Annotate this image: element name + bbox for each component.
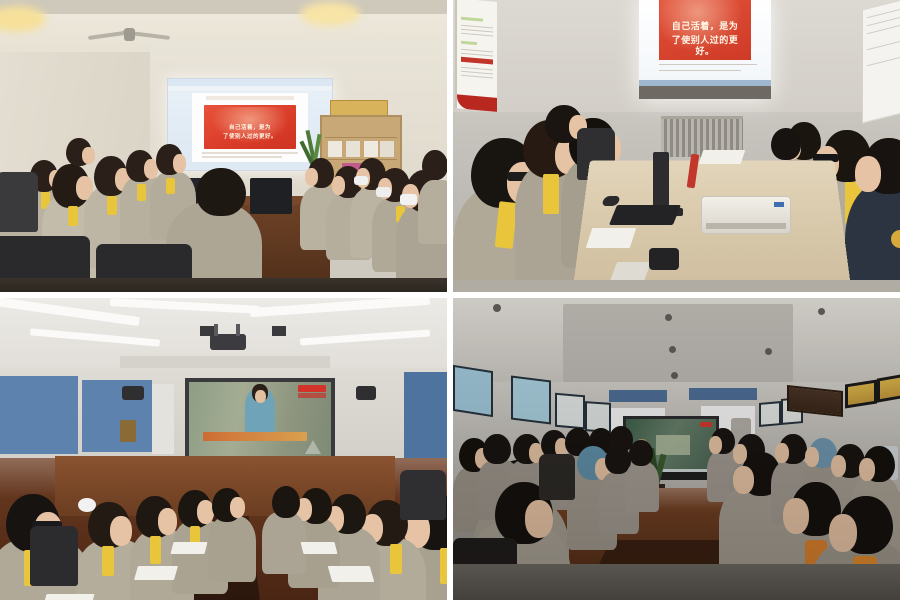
notes-paper — [41, 594, 94, 600]
whiteboard — [862, 0, 900, 123]
window-blind-left — [0, 376, 78, 454]
face-mask — [376, 187, 391, 197]
ceiling-edge — [0, 0, 447, 14]
slide-poster-line-2: 了使别人过的更好。 — [663, 36, 747, 59]
slide-poster-line-2: 了使别人过的更好。 — [208, 134, 292, 141]
downlight — [665, 314, 672, 321]
slide-red-poster: 自己活着，是为 了使别人过的更好。 — [204, 105, 296, 149]
information-poster — [455, 0, 497, 112]
window-valance-right — [689, 388, 757, 400]
downlight — [669, 346, 676, 353]
channel-logo-sub — [298, 393, 326, 398]
laptop-right — [250, 178, 292, 214]
chair — [0, 172, 38, 232]
window-blind-right — [404, 372, 447, 458]
slide-poster-line-1: 自己活着，是为 — [208, 125, 292, 132]
downlight — [671, 372, 678, 379]
face-mask — [400, 194, 417, 205]
framed-picture — [555, 393, 585, 430]
award-plaque — [845, 379, 877, 408]
projector — [701, 196, 791, 234]
slide-poster-line-1: 自己活着，是为 — [663, 22, 747, 33]
channel-logo — [298, 385, 326, 392]
ceiling-recess — [563, 304, 793, 382]
chair — [30, 526, 78, 586]
window-valance-left — [609, 390, 667, 402]
notes-paper — [328, 566, 375, 582]
chair — [400, 470, 446, 520]
award-plaque — [877, 373, 900, 402]
papers — [586, 228, 636, 248]
projection-screen: 自己活着，是为 了使别人过的更好。 — [639, 0, 771, 99]
notes-paper — [171, 542, 208, 554]
downlight — [493, 304, 501, 312]
chair — [539, 454, 575, 500]
slide-red-poster: 自己活着，是为 了使别人过的更好。 — [659, 0, 751, 60]
ceiling-projector — [210, 334, 246, 350]
wall-speaker-left — [122, 386, 144, 400]
downlight — [818, 308, 825, 315]
face-mask — [354, 176, 368, 185]
photo-top-left: 自己活着，是为 了使别人过的更好。 — [0, 0, 447, 292]
photo-bottom-right: Dim large conference room packed with se… — [453, 298, 900, 600]
ceiling-fan — [88, 30, 168, 40]
photo-bottom-left: Bright boardroom, two rows of staff at a… — [0, 298, 447, 600]
screen-app-ribbon — [168, 86, 332, 91]
keyboard — [609, 205, 681, 225]
ceiling-light-right — [300, 2, 360, 26]
papers — [699, 150, 746, 164]
floor — [453, 564, 900, 600]
framed-picture — [759, 401, 781, 427]
lower-third — [203, 432, 307, 441]
trophy — [120, 420, 136, 442]
collage-panel-bottom-right[interactable]: Dim large conference room packed with se… — [453, 298, 900, 600]
photo-top-right: 自己活着，是为 了使别人过的更好。 — [453, 0, 900, 292]
collage-panel-top-left[interactable]: 自己活着，是为 了使别人过的更好。 — [0, 0, 447, 292]
notes-paper — [301, 542, 338, 554]
projection-screen — [185, 378, 335, 468]
framed-picture — [511, 376, 551, 425]
telephone — [649, 248, 679, 270]
downlight — [765, 348, 772, 355]
screen-document-page: 自己活着，是为 了使别人过的更好。 — [192, 93, 308, 162]
hair-accessory — [78, 498, 96, 512]
collage-panel-bottom-left[interactable]: Bright boardroom, two rows of staff at a… — [0, 298, 447, 600]
framed-picture — [453, 365, 493, 417]
video-watermark — [700, 422, 712, 427]
collage-panel-top-right[interactable]: 自己活着，是为 了使别人过的更好。 — [453, 0, 900, 292]
ceiling-vent — [272, 326, 286, 336]
floor-shadow — [0, 278, 447, 292]
photo-collage: 自己活着，是为 了使别人过的更好。 — [0, 0, 900, 600]
notes-paper — [134, 566, 178, 580]
floor — [453, 280, 900, 292]
screen-app-toolbar — [168, 79, 332, 86]
door-panel — [152, 384, 174, 454]
wall-speaker-right — [356, 386, 376, 400]
